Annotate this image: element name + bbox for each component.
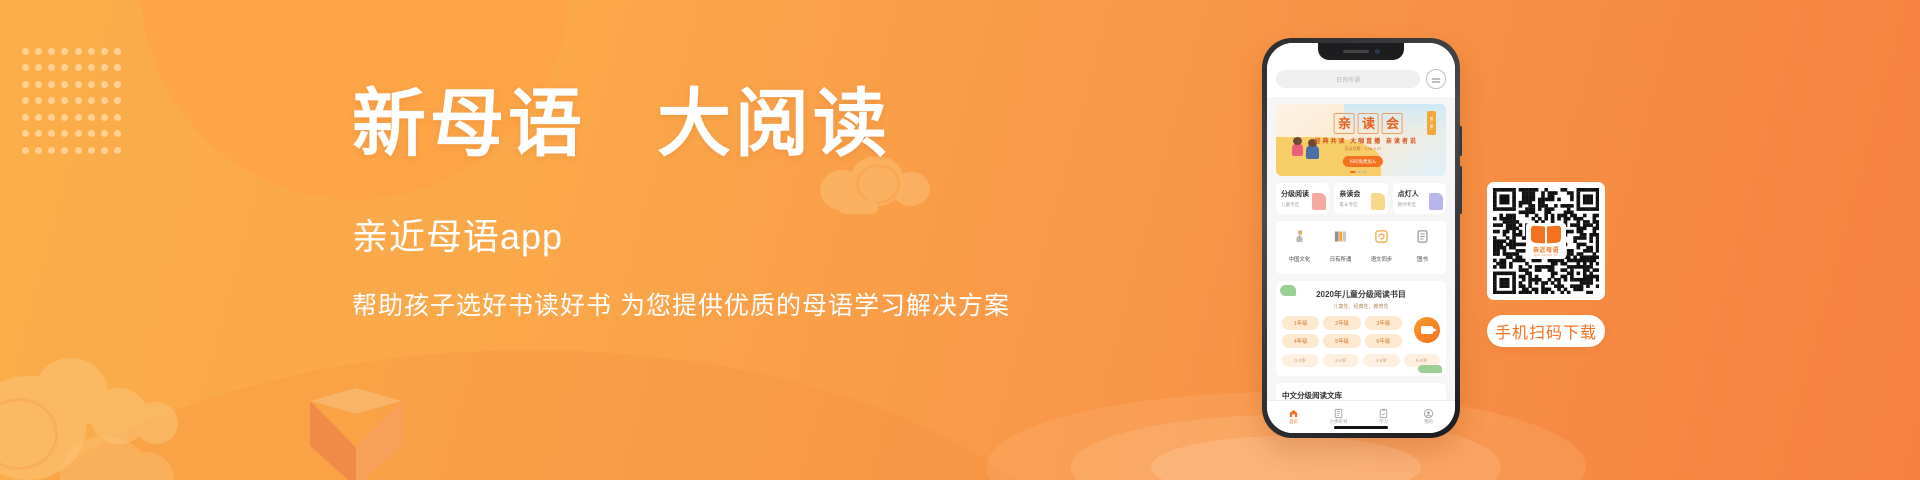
decor-dot [114,48,121,55]
decor-dot [61,130,68,137]
page-title: 新母语 大阅读 [352,86,1052,164]
phone-mockup: 日有所诵 亲读会 第二季 经典共读 大咖直播 亲读者说 活动日期：9.1 [1262,38,1460,438]
grade-chip[interactable]: 6年级 [1365,334,1402,348]
decor-dot [35,48,42,55]
decor-dot [61,147,68,154]
decor-dot [101,114,108,121]
headline-part-2: 大阅读 [657,84,891,166]
decor-dot [101,81,108,88]
booklist-subtitle: 儿童性、经典性、教育性 [1282,303,1440,310]
decor-dot [75,81,82,88]
grade-chip[interactable]: 3-4岁 [1323,354,1360,367]
list-icon [1333,406,1344,417]
decor-dot [35,130,42,137]
decor-dot [114,97,121,104]
hero-title: 亲读会 [1334,113,1403,134]
decor-dot [35,81,42,88]
entry-card-list: 分级阅读儿童专区亲读会家长专区点灯人教师专区 [1276,183,1446,214]
tab-list[interactable]: 小步听书 [1316,404,1361,425]
qr-download-block: 亲近母语 QIN JIN MU YU 手机扫码下载 [1487,182,1605,347]
hero-title-char: 会 [1382,113,1403,134]
entry-card-decor-icon [1429,193,1443,210]
grade-chip[interactable]: 3年级 [1365,316,1402,330]
video-play-button[interactable] [1414,317,1440,343]
grade-chip[interactable]: 0-3岁 [1282,354,1319,367]
quick-nav-label: 图书 [1417,257,1428,263]
tagline-text: 帮助孩子选好书读好书 为您提供优质的母语学习解决方案 [352,286,1052,322]
vase-icon [1292,229,1307,244]
decor-dot [88,97,95,104]
earpiece-speaker-icon [1343,50,1369,53]
qr-logo-en: QIN JIN MU YU [1534,254,1557,257]
grade-chip[interactable]: 2年级 [1323,316,1360,330]
qr-logo-cn: 亲近母语 [1533,245,1559,254]
decor-dot [61,114,68,121]
hero-subtitle: 经典共读 大咖直播 亲读者说 [1314,136,1417,145]
decor-dot [22,114,29,121]
decor-dot [61,81,68,88]
download-button[interactable]: 手机扫码下载 [1487,315,1605,347]
decor-dot [75,97,82,104]
hero-banner-card[interactable]: 亲读会 第二季 经典共读 大咖直播 亲读者说 活动日期：9.16-9.27 扫码… [1276,104,1446,176]
decor-dot [101,147,108,154]
clipboard-icon [1378,406,1389,417]
decor-dot [48,130,55,137]
app-name-subtitle: 亲近母语app [352,208,1052,260]
banner-copy: 新母语 大阅读 亲近母语app 帮助孩子选好书读好书 为您提供优质的母语学习解决… [352,86,1052,322]
tab-label: 学习 [1361,419,1406,425]
booklist-card[interactable]: 2020年儿童分级阅读书目 儿童性、经典性、教育性 1年级2年级3年级4年级5年… [1276,281,1446,376]
decor-dot [88,147,95,154]
booklist-title: 2020年儿童分级阅读书目 [1282,289,1440,300]
quick-nav-item[interactable]: 日有所诵 [1320,229,1361,266]
decor-dot [22,48,29,55]
search-placeholder: 日有所诵 [1336,75,1360,84]
app-screen-content: 日有所诵 亲读会 第二季 经典共读 大咖直播 亲读者说 活动日期：9.1 [1267,43,1455,433]
entry-card-decor-icon [1371,193,1385,210]
phone-volume-up-button [1459,126,1462,156]
decor-dot [35,97,42,104]
tab-label: 小步听书 [1316,419,1361,425]
decor-dot [22,81,29,88]
decor-dot [61,97,68,104]
phone-power-button [1459,166,1462,214]
phone-notch [1318,43,1404,60]
decor-dot [48,64,55,71]
decor-dot [114,114,121,121]
tab-label: 我的 [1406,419,1451,425]
decor-dot [88,81,95,88]
decor-dot [88,64,95,71]
decor-dot [61,64,68,71]
decor-cloud-bottom-left-2 [60,406,260,480]
entry-card[interactable]: 分级阅读儿童专区 [1276,183,1329,214]
entry-card[interactable]: 点灯人教师专区 [1393,183,1446,214]
entry-card[interactable]: 亲读会家长专区 [1334,183,1387,214]
decor-dot [114,130,121,137]
quick-nav-label: 中国文化 [1289,257,1311,263]
decor-dot [22,130,29,137]
person-icon [1423,406,1434,417]
decor-dot [101,97,108,104]
hero-title-char: 读 [1358,113,1379,134]
decor-dot [22,97,29,104]
grade-chip[interactable]: 4-5岁 [1363,354,1400,367]
tab-home[interactable]: 首页 [1271,404,1316,425]
quick-nav-item[interactable]: 图书 [1402,229,1443,266]
promo-banner: 新母语 大阅读 亲近母语app 帮助孩子选好书读好书 为您提供优质的母语学习解决… [0,0,1920,480]
decor-dot [48,81,55,88]
tab-clipboard[interactable]: 学习 [1361,404,1406,425]
carousel-dots[interactable] [1350,171,1366,173]
grade-chip[interactable]: 1年级 [1282,316,1319,330]
tab-label: 首页 [1271,419,1316,425]
decor-leaf-icon-2 [1418,365,1442,373]
decor-dot [48,147,55,154]
decor-dot [75,64,82,71]
decor-dot [35,64,42,71]
quick-nav-item[interactable]: 中国文化 [1279,229,1320,266]
decor-dot [114,147,121,154]
book-icon [1415,229,1430,244]
decor-dot [48,48,55,55]
decor-dot [48,114,55,121]
entry-card-decor-icon [1312,193,1326,210]
decor-dot [22,64,29,71]
decor-dot-grid [22,48,127,163]
quick-nav-label: 日有所诵 [1330,257,1352,263]
qr-center-logo: 亲近母语 QIN JIN MU YU [1526,223,1566,259]
decor-dot [35,147,42,154]
decor-dot [75,130,82,137]
message-icon[interactable] [1426,69,1446,89]
decor-dot [48,97,55,104]
grade-chip[interactable]: 5年级 [1323,334,1360,348]
decor-dot [75,147,82,154]
hero-date: 活动日期：9.16-9.27 [1344,146,1381,152]
quick-nav-row: 中国文化日有所诵语文同步图书 [1276,221,1446,274]
quick-nav-item[interactable]: 语文同步 [1361,229,1402,266]
decor-dot [114,64,121,71]
home-indicator [1334,426,1388,429]
decor-dot [88,130,95,137]
decor-dot [75,114,82,121]
hero-ribbon: 第二季 [1427,111,1436,135]
decor-dot [75,48,82,55]
decor-dot [101,48,108,55]
quick-nav-label: 语文同步 [1371,257,1393,263]
hero-title-char: 亲 [1334,113,1355,134]
decor-dot [35,114,42,121]
decor-dot [22,147,29,154]
decor-dot [88,114,95,121]
headline-part-1: 新母语 [352,84,586,166]
decor-dot [61,48,68,55]
illustration-child-2 [1306,145,1319,159]
phone-screen: 日有所诵 亲读会 第二季 经典共读 大咖直播 亲读者说 活动日期：9.1 [1267,43,1455,433]
decor-dot [101,130,108,137]
search-input[interactable]: 日有所诵 [1276,70,1420,88]
decor-dot [88,48,95,55]
front-camera-icon [1375,49,1380,54]
book-stack-icon [1333,229,1348,244]
grade-chip[interactable]: 4年级 [1282,334,1319,348]
sync-icon [1374,229,1389,244]
illustration-child-1 [1292,143,1303,156]
decor-cube [310,388,402,480]
qr-code[interactable]: 亲近母语 QIN JIN MU YU [1487,182,1605,300]
home-icon [1288,406,1299,417]
decor-dot [101,64,108,71]
tab-person[interactable]: 我的 [1406,404,1451,425]
decor-leaf-icon [1280,285,1296,296]
decor-dot [114,81,121,88]
age-chip-list: 0-3岁3-4岁4-5岁5-6岁 [1282,354,1440,367]
hero-join-button[interactable]: 扫码免费加入 [1343,156,1383,167]
